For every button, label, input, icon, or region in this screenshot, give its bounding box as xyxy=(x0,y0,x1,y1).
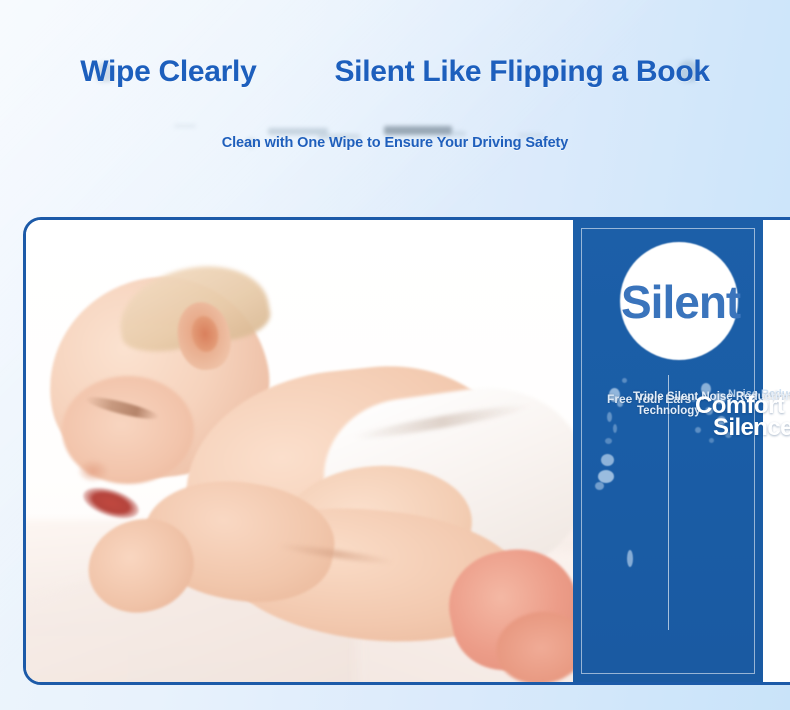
ghost-wiper-blade-1 xyxy=(268,128,328,135)
water-droplet xyxy=(595,482,604,490)
baby-nose xyxy=(78,460,108,482)
water-droplet xyxy=(627,550,633,567)
ghost-shape-4 xyxy=(174,124,196,128)
label-technology: Technology xyxy=(637,404,701,419)
ghost-wiper-blade-3 xyxy=(384,126,452,135)
headline-silence: Silence xyxy=(713,416,790,440)
baby-photo xyxy=(26,220,573,682)
headline-row: Wipe Clearly Silent Like Flipping a Book xyxy=(0,55,790,89)
silent-badge-label: Silent xyxy=(621,275,740,329)
ghost-product-imagery xyxy=(0,0,790,200)
header-section: Wipe Clearly Silent Like Flipping a Book… xyxy=(0,0,790,200)
silent-panel: Silent Noise Reduction Free Your Ears Tr… xyxy=(573,220,763,682)
header-subtitle: Clean with One Wipe to Ensure Your Drivi… xyxy=(0,135,790,151)
headline-wipe-clearly: Wipe Clearly xyxy=(80,55,256,89)
panel-text-cluster: Noise Reduction Free Your Ears Triple Si… xyxy=(573,380,763,450)
water-droplet xyxy=(598,470,614,483)
content-frame: Silent Noise Reduction Free Your Ears Tr… xyxy=(23,217,790,685)
headline-silent-like-flipping-a-book: Silent Like Flipping a Book xyxy=(334,55,709,89)
water-droplet xyxy=(601,454,614,466)
